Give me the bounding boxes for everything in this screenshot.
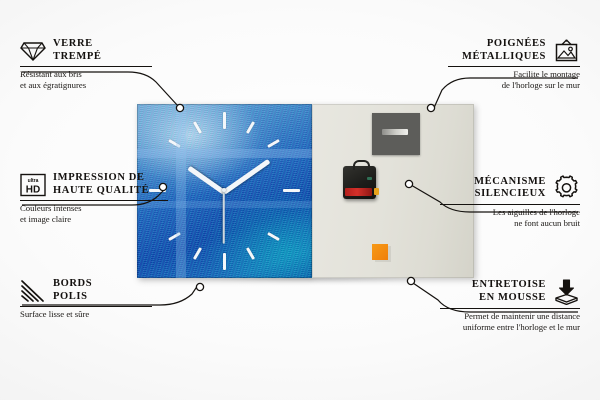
battery-terminal xyxy=(374,188,379,195)
feature-header: POIGNÉES MÉTALLIQUES xyxy=(448,38,580,63)
feature-divider xyxy=(20,200,168,201)
feature-impression-haute-qualite: ultra HD IMPRESSION DE HAUTE QUALITÉ Cou… xyxy=(20,172,168,224)
hour-hand xyxy=(187,166,225,195)
polished-edge-icon xyxy=(20,279,46,303)
tick-6 xyxy=(223,253,226,270)
poignee-metallique xyxy=(372,113,420,155)
gear-icon xyxy=(553,175,580,201)
tick-8 xyxy=(168,232,181,241)
svg-text:ultra: ultra xyxy=(28,178,39,184)
picture-frame-hanger-icon xyxy=(553,39,580,63)
hand-center-cap xyxy=(222,188,226,192)
infographic-canvas: VERRE TREMPÉ Résistant aux bris et aux é… xyxy=(0,0,600,400)
feature-divider xyxy=(440,204,580,205)
mecanisme-horloge xyxy=(343,166,376,199)
feature-divider xyxy=(20,66,152,67)
feature-title: MÉCANISME SILENCIEUX xyxy=(474,176,546,201)
feature-subtitle: Les aiguilles de l'horloge ne font aucun… xyxy=(440,207,580,228)
diamond-icon xyxy=(20,40,46,62)
tick-7 xyxy=(193,247,202,260)
product-image xyxy=(137,104,474,278)
pile xyxy=(345,188,372,196)
feature-divider xyxy=(440,308,580,309)
tick-1 xyxy=(246,121,255,134)
tick-11 xyxy=(193,121,202,134)
feature-title: ENTRETOISE EN MOUSSE xyxy=(472,279,546,304)
feature-title: BORDS POLIS xyxy=(53,278,92,303)
feature-header: ultra HD IMPRESSION DE HAUTE QUALITÉ xyxy=(20,172,168,197)
tick-3 xyxy=(283,189,300,192)
mechanism-hanging-loop xyxy=(353,160,370,170)
tick-5 xyxy=(246,247,255,260)
feature-subtitle: Facilite le montage de l'horloge sur le … xyxy=(448,69,580,90)
hanger-slot xyxy=(382,129,408,135)
feature-subtitle: Surface lisse et sûre xyxy=(20,309,152,320)
press-down-pad-icon xyxy=(553,278,580,305)
tick-10 xyxy=(168,139,181,148)
feature-title: IMPRESSION DE HAUTE QUALITÉ xyxy=(53,172,149,197)
second-hand xyxy=(223,192,225,244)
product-shadow xyxy=(150,276,470,292)
ultra-hd-icon: ultra HD xyxy=(20,173,46,197)
feature-poignees-metalliques: POIGNÉES MÉTALLIQUES Facilite le montage… xyxy=(448,38,580,90)
feature-subtitle: Permet de maintenir une distance uniform… xyxy=(440,311,580,332)
svg-text:HD: HD xyxy=(26,184,40,195)
tick-4 xyxy=(267,232,280,241)
mechanism-label xyxy=(367,177,372,180)
feature-divider xyxy=(20,306,152,307)
entretoise-mousse xyxy=(372,244,388,260)
feature-entretoise-en-mousse: ENTRETOISE EN MOUSSE Permet de maintenir… xyxy=(440,278,580,332)
feature-header: MÉCANISME SILENCIEUX xyxy=(440,175,580,201)
feature-subtitle: Couleurs intenses et image claire xyxy=(20,203,168,224)
minute-hand xyxy=(223,159,271,195)
feature-mecanisme-silencieux: MÉCANISME SILENCIEUX Les aiguilles de l'… xyxy=(440,175,580,228)
feature-header: BORDS POLIS xyxy=(20,278,152,303)
feature-subtitle: Résistant aux bris et aux égratignures xyxy=(20,69,152,90)
feature-header: VERRE TREMPÉ xyxy=(20,38,152,63)
feature-bords-polis: BORDS POLIS Surface lisse et sûre xyxy=(20,278,152,320)
tick-12 xyxy=(223,112,226,129)
feature-title: POIGNÉES MÉTALLIQUES xyxy=(462,38,546,63)
feature-title: VERRE TREMPÉ xyxy=(53,38,102,63)
feature-header: ENTRETOISE EN MOUSSE xyxy=(440,278,580,305)
feature-divider xyxy=(448,66,580,67)
tick-2 xyxy=(267,139,280,148)
feature-verre-trempe: VERRE TREMPÉ Résistant aux bris et aux é… xyxy=(20,38,152,90)
